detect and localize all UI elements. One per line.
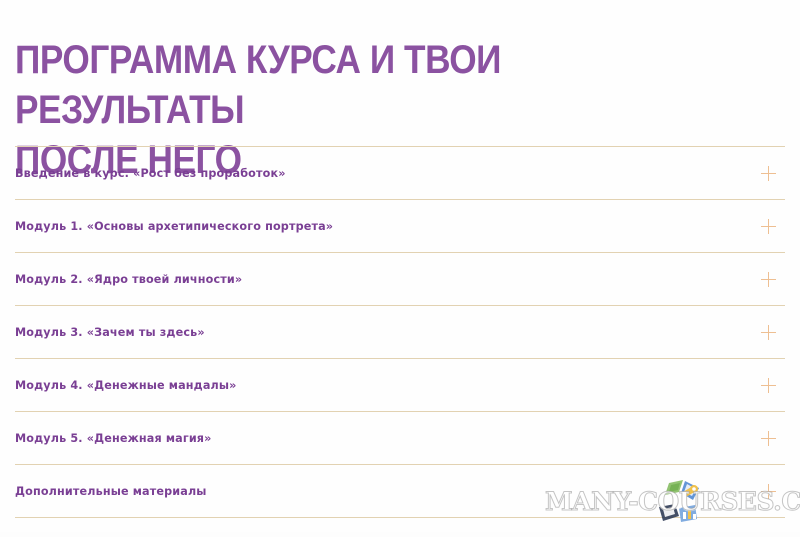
course-program-page: ПРОГРАММА КУРСА И ТВОИ РЕЗУЛЬТАТЫ ПОСЛЕ … bbox=[0, 0, 800, 532]
plus-icon-vertical-bar bbox=[768, 219, 769, 234]
accordion-divider bbox=[15, 517, 785, 518]
plus-icon[interactable] bbox=[761, 325, 776, 340]
accordion-item[interactable]: Модуль 1. «Основы архетипического портре… bbox=[0, 200, 800, 252]
plus-icon[interactable] bbox=[761, 166, 776, 181]
plus-icon[interactable] bbox=[761, 219, 776, 234]
plus-icon[interactable] bbox=[761, 484, 776, 499]
plus-icon[interactable] bbox=[761, 431, 776, 446]
accordion-item[interactable]: Модуль 5. «Денежная магия» bbox=[0, 412, 800, 464]
accordion-item[interactable]: Введение в курс. «Рост без проработок» bbox=[0, 147, 800, 199]
accordion-item-label: Дополнительные материалы bbox=[15, 485, 207, 498]
plus-icon-vertical-bar bbox=[768, 484, 769, 499]
plus-icon-vertical-bar bbox=[768, 166, 769, 181]
plus-icon[interactable] bbox=[761, 272, 776, 287]
accordion-item[interactable]: Модуль 2. «Ядро твоей личности» bbox=[0, 253, 800, 305]
accordion-item-label: Модуль 1. «Основы архетипического портре… bbox=[15, 220, 333, 233]
accordion-item-label: Модуль 3. «Зачем ты здесь» bbox=[15, 326, 205, 339]
plus-icon-vertical-bar bbox=[768, 325, 769, 340]
plus-icon-vertical-bar bbox=[768, 431, 769, 446]
plus-icon[interactable] bbox=[761, 378, 776, 393]
course-program-accordion: Введение в курс. «Рост без проработок»Мо… bbox=[0, 146, 800, 518]
accordion-item[interactable]: Модуль 4. «Денежные мандалы» bbox=[0, 359, 800, 411]
plus-icon-vertical-bar bbox=[768, 378, 769, 393]
accordion-item-label: Введение в курс. «Рост без проработок» bbox=[15, 167, 286, 180]
accordion-item-label: Модуль 4. «Денежные мандалы» bbox=[15, 379, 237, 392]
accordion-item-label: Модуль 2. «Ядро твоей личности» bbox=[15, 273, 242, 286]
accordion-item[interactable]: Дополнительные материалы bbox=[0, 465, 800, 517]
accordion-item-label: Модуль 5. «Денежная магия» bbox=[15, 432, 212, 445]
plus-icon-vertical-bar bbox=[768, 272, 769, 287]
accordion-item[interactable]: Модуль 3. «Зачем ты здесь» bbox=[0, 306, 800, 358]
